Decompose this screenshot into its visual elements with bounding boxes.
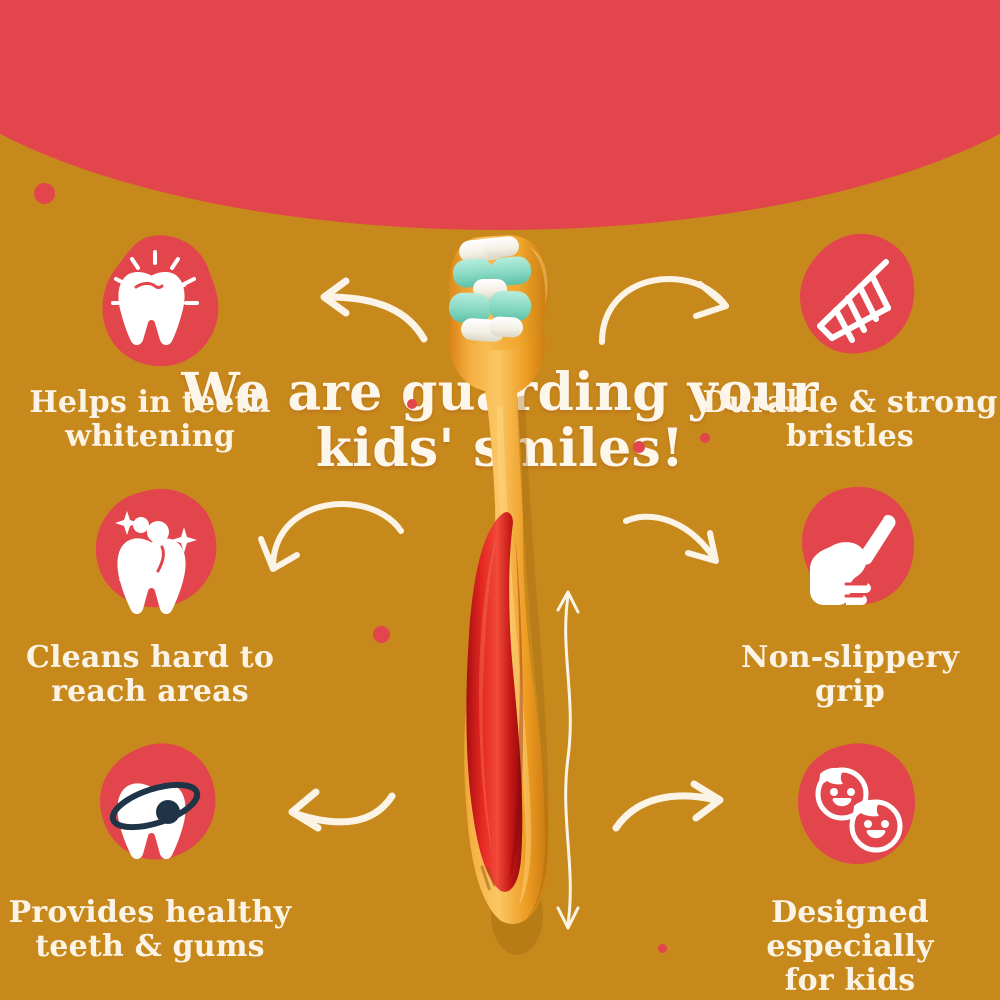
feature-label: Durable & strong bristles <box>700 386 1000 454</box>
header-banner <box>0 0 1000 230</box>
shining-tooth-icon <box>80 230 230 380</box>
icon-blob <box>780 740 930 890</box>
feature-provides-healthy-teeth-and-gums: Provides healthy teeth & gums <box>0 740 300 964</box>
decorative-dot <box>34 183 55 204</box>
decorative-dot <box>658 944 667 953</box>
icon-blob <box>80 230 230 380</box>
decorative-dot <box>633 441 645 453</box>
feature-label: Provides healthy teeth & gums <box>0 896 300 964</box>
feature-label: Designed especially for kids <box>700 896 1000 999</box>
toothbrush-illustration <box>405 215 615 955</box>
two-kid-faces-icon <box>780 740 930 890</box>
feature-helps-in-teeth-whitening: Helps in teeth whitening <box>0 230 300 454</box>
brush-head-icon <box>780 230 930 380</box>
kids-toothbrush-product-image <box>405 215 615 955</box>
icon-blob <box>80 485 230 635</box>
hand-holding-brush-icon <box>780 485 930 635</box>
feature-label: Cleans hard to reach areas <box>0 641 300 709</box>
icon-blob <box>80 740 230 890</box>
feature-durable-and-strong-bristles: Durable & strong bristles <box>700 230 1000 454</box>
infographic-poster: We are guarding your kids' smiles! <box>0 0 1000 1000</box>
feature-cleans-hard-to-reach-areas: Cleans hard to reach areas <box>0 485 300 709</box>
feature-label: Non-slippery grip <box>700 641 1000 709</box>
tooth-orbit-icon <box>80 740 230 890</box>
sparkling-tooth-icon <box>80 485 230 635</box>
feature-label: Helps in teeth whitening <box>0 386 300 454</box>
feature-designed-especially-for-kids: Designed especially for kids <box>700 740 1000 999</box>
feature-non-slippery-grip: Non-slippery grip <box>700 485 1000 709</box>
icon-blob <box>780 230 930 380</box>
icon-blob <box>780 485 930 635</box>
decorative-dot <box>373 626 390 643</box>
